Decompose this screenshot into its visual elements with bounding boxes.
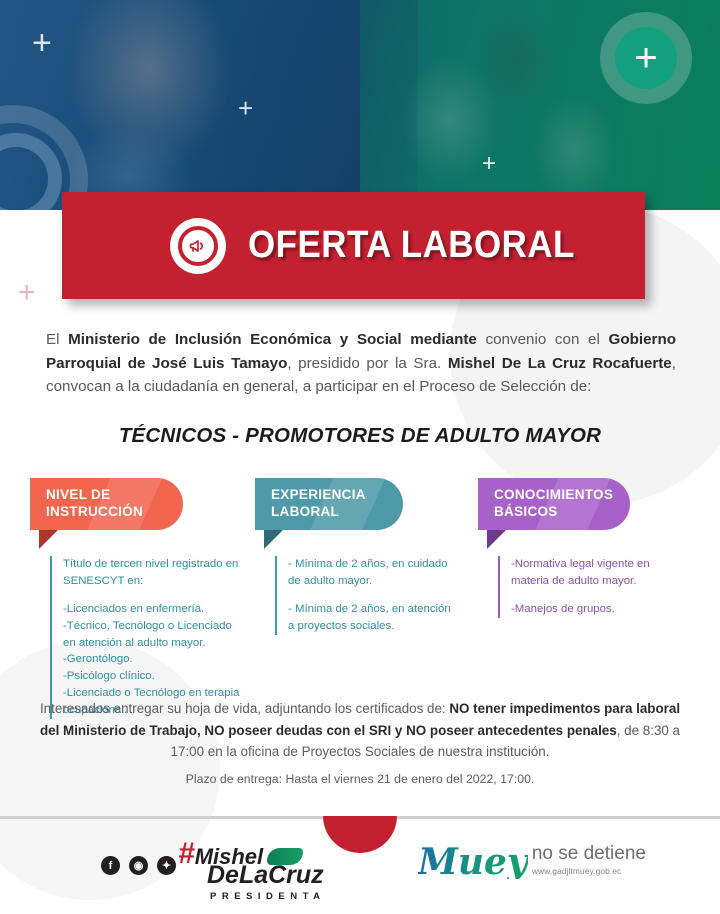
column-tag-line1: NIVEL DE <box>46 487 143 504</box>
text-segment-1: Ministerio de Inclusión Económica y Soci… <box>68 331 477 348</box>
column-item: -Manejos de grupos. <box>511 601 688 618</box>
column-tag-line2: INSTRUCCIÓN <box>46 504 143 521</box>
text-segment-0: El <box>46 331 68 348</box>
muey-tagline: no se detiene <box>532 843 646 864</box>
twitter-icon[interactable]: ✦ <box>157 856 176 875</box>
job-title: TÉCNICOS - PROMOTORES DE ADULTO MAYOR <box>0 424 720 448</box>
column-tag-line1: EXPERIENCIA <box>271 487 366 504</box>
column-body: Título de tercen nivel registrado en SEN… <box>50 556 245 719</box>
closing-paragraph: Interesados entregar su hoja de vida, ad… <box>34 698 686 763</box>
muey-url: www.gadjltmuey.gob.ec <box>532 866 646 876</box>
column-tag-tail <box>264 530 283 549</box>
column-tag-line1: CONOCIMIENTOS <box>494 487 613 504</box>
plus-icon: + <box>18 278 36 308</box>
facebook-icon[interactable]: f <box>101 856 120 875</box>
plus-circle-inner: + <box>615 27 677 89</box>
column-body: - Mínima de 2 años, en cuidado de adulto… <box>275 556 460 635</box>
logo-role: PRESIDENTA <box>210 891 326 902</box>
plus-circle-icon: + <box>600 12 692 104</box>
column-item: - Mínima de 2 años, en cuidado de adulto… <box>288 556 460 590</box>
plus-icon: + <box>32 26 52 60</box>
social-links: f ◉ ✦ <box>101 856 176 875</box>
instagram-icon[interactable]: ◉ <box>129 856 148 875</box>
text-segment-2: convenio con el <box>477 331 609 348</box>
muey-logo: Muey no se detiene www.gadjltmuey.gob.ec <box>418 844 646 879</box>
text-segment-5: Mishel De La Cruz Rocafuerte <box>448 355 672 372</box>
column-nivel-de-instruccion: NIVEL DE INSTRUCCIÓN Título de tercen ni… <box>30 478 245 719</box>
column-tag: EXPERIENCIA LABORAL <box>255 478 403 530</box>
muey-brand: Muey <box>418 845 528 879</box>
column-experiencia-laboral: EXPERIENCIA LABORAL - Mínima de 2 años, … <box>255 478 460 635</box>
column-tag: CONOCIMIENTOS BÁSICOS <box>478 478 630 530</box>
footer: f ◉ ✦ # Mishel DeLaCruz PRESIDENTA Muey … <box>0 830 720 914</box>
header-photo-banner: + + + <box>0 0 720 210</box>
column-body: -Normativa legal vigente en materia de a… <box>498 556 688 618</box>
column-conocimientos-basicos: CONOCIMIENTOS BÁSICOS -Normativa legal v… <box>478 478 688 618</box>
column-tag-line2: BÁSICOS <box>494 504 613 521</box>
column-tag-tail <box>39 530 58 549</box>
logo-last-name: DeLaCruz <box>207 864 324 888</box>
intro-paragraph: El Ministerio de Inclusión Económica y S… <box>46 328 676 399</box>
deadline-text: Plazo de entrega: Hasta el viernes 21 de… <box>0 772 720 786</box>
requirements-columns: NIVEL DE INSTRUCCIÓN Título de tercen ni… <box>0 478 720 688</box>
column-item: -Normativa legal vigente en materia de a… <box>511 556 688 590</box>
column-item: - Mínima de 2 años, en atención a proyec… <box>288 601 460 635</box>
megaphone-icon <box>170 218 226 274</box>
plus-icon: + <box>238 95 253 121</box>
column-tag-line2: LABORAL <box>271 504 366 521</box>
column-item: Título de tercen nivel registrado en SEN… <box>63 556 245 590</box>
banner-title: OFERTA LABORAL <box>248 224 575 267</box>
mishel-delacruz-logo: # Mishel DeLaCruz PRESIDENTA <box>178 842 326 902</box>
text-segment-0: Interesados entregar su hoja de vida, ad… <box>40 701 449 716</box>
column-tag: NIVEL DE INSTRUCCIÓN <box>30 478 183 530</box>
plus-icon: + <box>482 152 496 176</box>
oferta-laboral-banner: OFERTA LABORAL <box>62 192 645 299</box>
text-segment-4: , presidido por la Sra. <box>287 355 448 372</box>
column-tag-tail <box>487 530 506 549</box>
megaphone-icon-ring <box>178 226 218 266</box>
hashtag-icon: # <box>178 842 194 867</box>
